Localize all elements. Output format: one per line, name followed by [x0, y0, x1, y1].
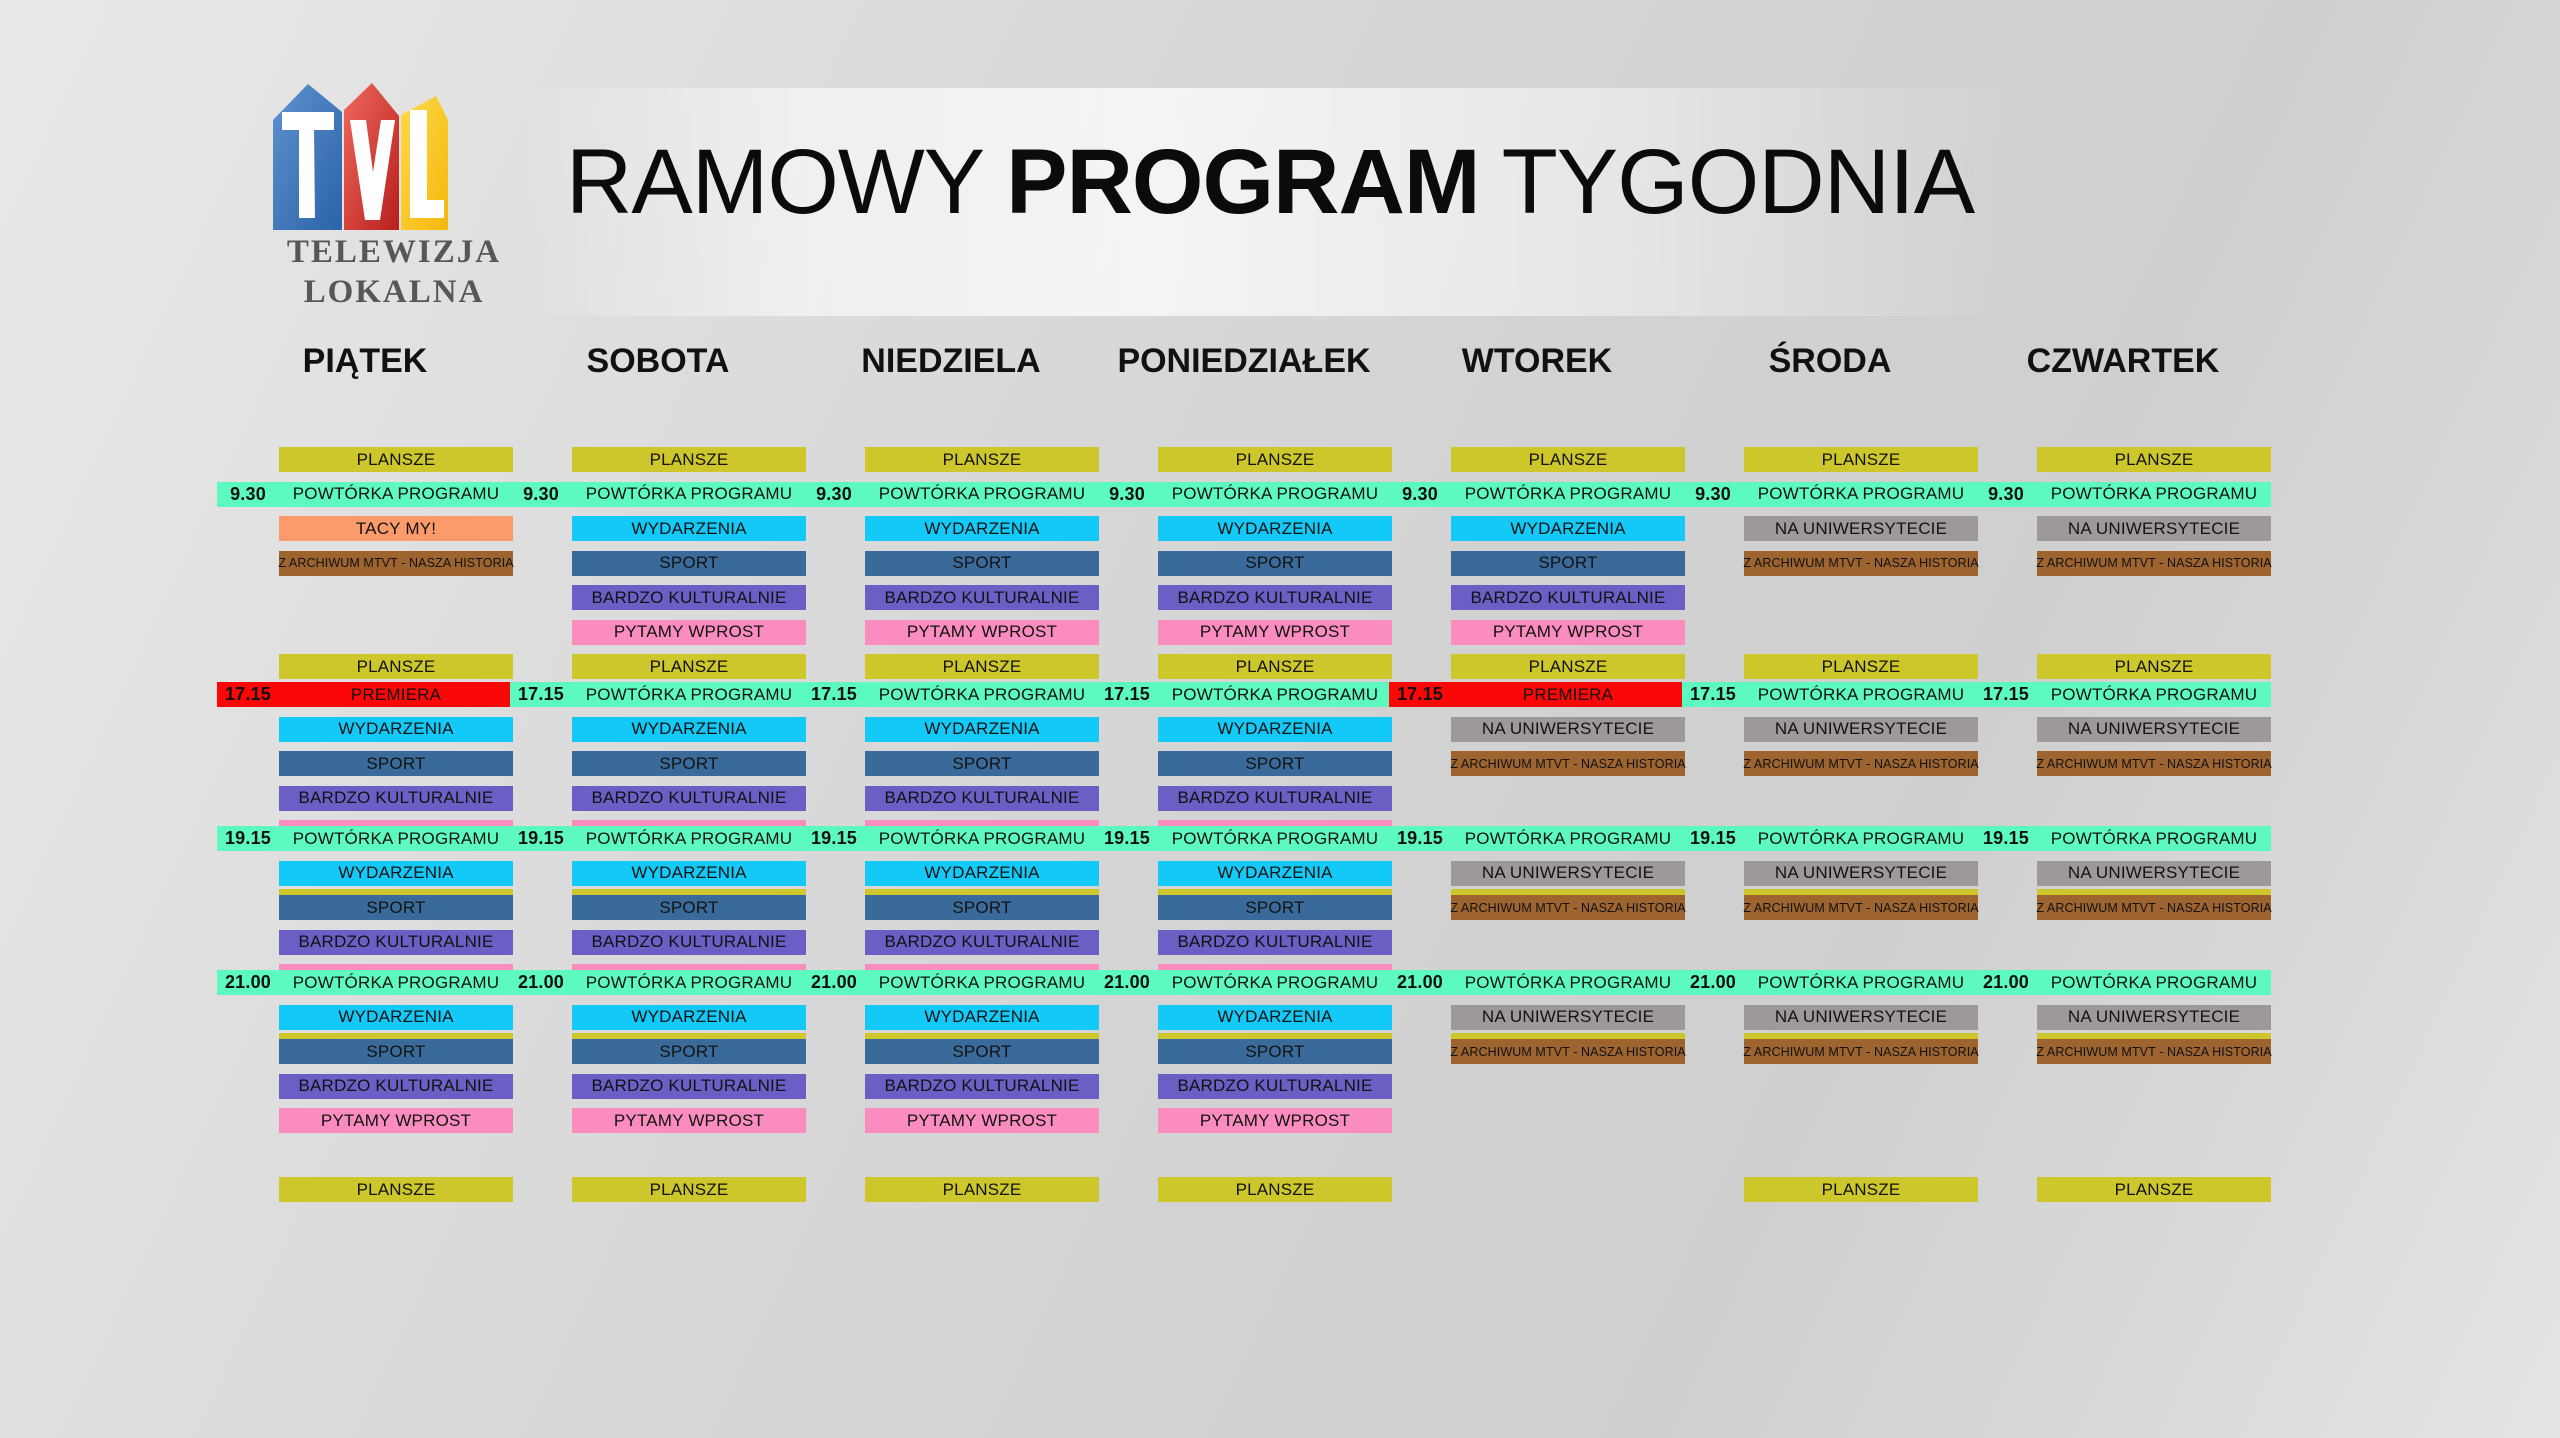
program-bar[interactable]: 9.30POWTÓRKA PROGRAMU — [217, 482, 513, 507]
program-bar[interactable]: PLANSZE — [2037, 447, 2271, 472]
program-label: BARDZO KULTURALNIE — [884, 932, 1079, 952]
program-label: PLANSZE — [2115, 1180, 2194, 1200]
program-time: 9.30 — [1682, 482, 1744, 507]
program-label: POWTÓRKA PROGRAMU — [2037, 685, 2271, 705]
program-bar[interactable]: 19.15POWTÓRKA PROGRAMU — [803, 826, 1099, 851]
program-bar[interactable]: PLANSZE — [865, 654, 1099, 679]
schedule-slot: Z ARCHIWUM MTVT - NASZA HISTORIA — [217, 551, 513, 585]
schedule-slot: NA UNIWERSYTECIE — [1682, 717, 1978, 751]
program-label: Z ARCHIWUM MTVT - NASZA HISTORIA — [2036, 901, 2271, 915]
program-bar[interactable]: BARDZO KULTURALNIE — [1158, 786, 1392, 811]
schedule-slot: SPORT — [803, 551, 1099, 585]
program-label: PLANSZE — [357, 657, 436, 677]
program-label: PLANSZE — [1236, 450, 1315, 470]
program-label: SPORT — [952, 898, 1011, 918]
program-bar[interactable]: WYDARZENIA — [1158, 516, 1392, 541]
program-bar[interactable]: 9.30POWTÓRKA PROGRAMU — [510, 482, 806, 507]
program-label: Z ARCHIWUM MTVT - NASZA HISTORIA — [278, 556, 513, 570]
program-bar[interactable]: WYDARZENIA — [1158, 717, 1392, 742]
program-bar[interactable]: PLANSZE — [2037, 654, 2271, 679]
program-bar[interactable]: Z ARCHIWUM MTVT - NASZA HISTORIA — [1451, 751, 1685, 776]
program-label: BARDZO KULTURALNIE — [884, 788, 1079, 808]
schedule-slot: 17.15POWTÓRKA PROGRAMU — [1975, 682, 2271, 716]
schedule-slot: 19.15POWTÓRKA PROGRAMU — [1389, 826, 1685, 860]
program-bar[interactable]: PLANSZE — [865, 447, 1099, 472]
program-bar[interactable]: 9.30POWTÓRKA PROGRAMU — [1682, 482, 1978, 507]
schedule-slot: WYDARZENIA — [1096, 861, 1392, 895]
program-bar[interactable]: 21.00POWTÓRKA PROGRAMU — [1682, 970, 1978, 995]
program-bar[interactable]: PYTAMY WPROST — [865, 620, 1099, 645]
schedule-gap — [1682, 1143, 1978, 1177]
program-label: SPORT — [1245, 553, 1304, 573]
program-bar[interactable]: 21.00POWTÓRKA PROGRAMU — [803, 970, 1099, 995]
program-bar[interactable]: BARDZO KULTURALNIE — [572, 585, 806, 610]
program-bar[interactable]: BARDZO KULTURALNIE — [572, 930, 806, 955]
logo-subtitle: TELEWIZJA LOKALNA — [268, 232, 520, 313]
schedule-slot: BARDZO KULTURALNIE — [217, 1074, 513, 1108]
program-label: BARDZO KULTURALNIE — [1470, 588, 1665, 608]
program-bar[interactable]: BARDZO KULTURALNIE — [865, 585, 1099, 610]
program-label: WYDARZENIA — [1510, 519, 1625, 539]
schedule-slot: Z ARCHIWUM MTVT - NASZA HISTORIA — [1975, 895, 2271, 929]
program-bar[interactable]: PLANSZE — [1158, 447, 1392, 472]
program-bar[interactable]: SPORT — [572, 551, 806, 576]
schedule-gap — [1682, 1108, 1978, 1142]
program-bar[interactable]: BARDZO KULTURALNIE — [1158, 930, 1392, 955]
schedule-slot: NA UNIWERSYTECIE — [1682, 516, 1978, 550]
program-label: NA UNIWERSYTECIE — [1775, 863, 1947, 883]
program-bar[interactable]: SPORT — [1451, 551, 1685, 576]
program-bar[interactable]: SPORT — [865, 551, 1099, 576]
program-label: SPORT — [366, 1042, 425, 1062]
program-bar[interactable]: SPORT — [1158, 895, 1392, 920]
schedule-slot: SPORT — [510, 895, 806, 929]
program-label: BARDZO KULTURALNIE — [298, 932, 493, 952]
day-column-środa: ŚRODAPLANSZE9.30POWTÓRKA PROGRAMUNA UNIW… — [1682, 330, 1978, 392]
program-label: PYTAMY WPROST — [1493, 622, 1643, 642]
program-label: PLANSZE — [2115, 450, 2194, 470]
program-bar[interactable]: Z ARCHIWUM MTVT - NASZA HISTORIA — [2037, 895, 2271, 920]
program-bar[interactable]: 21.00POWTÓRKA PROGRAMU — [1975, 970, 2271, 995]
schedule-gap — [1389, 1108, 1685, 1142]
program-time: 19.15 — [1975, 826, 2037, 851]
program-label: Z ARCHIWUM MTVT - NASZA HISTORIA — [1450, 901, 1685, 915]
program-time: 19.15 — [1682, 826, 1744, 851]
program-label: POWTÓRKA PROGRAMU — [1744, 685, 1978, 705]
schedule-gap — [1389, 930, 1685, 964]
program-bar[interactable]: SPORT — [865, 1039, 1099, 1064]
schedule-slot: 21.00POWTÓRKA PROGRAMU — [803, 970, 1099, 1004]
schedule-slot: PYTAMY WPROST — [803, 620, 1099, 654]
schedule-slot: Z ARCHIWUM MTVT - NASZA HISTORIA — [1682, 1039, 1978, 1073]
schedule-slot: WYDARZENIA — [510, 861, 806, 895]
program-bar[interactable]: PYTAMY WPROST — [1451, 620, 1685, 645]
schedule-slot: BARDZO KULTURALNIE — [803, 930, 1099, 964]
program-bar[interactable]: PLANSZE — [1451, 447, 1685, 472]
program-bar[interactable]: 21.00POWTÓRKA PROGRAMU — [510, 970, 806, 995]
program-bar[interactable]: SPORT — [572, 751, 806, 776]
program-time: 21.00 — [803, 970, 865, 995]
schedule-gap — [1682, 620, 1978, 654]
program-label: PLANSZE — [1822, 657, 1901, 677]
program-bar[interactable]: PLANSZE — [1744, 1177, 1978, 1202]
program-bar[interactable]: BARDZO KULTURALNIE — [572, 1074, 806, 1099]
program-bar[interactable]: BARDZO KULTURALNIE — [1158, 1074, 1392, 1099]
schedule-slot: NA UNIWERSYTECIE — [1975, 717, 2271, 751]
program-label: BARDZO KULTURALNIE — [1177, 588, 1372, 608]
program-label: Z ARCHIWUM MTVT - NASZA HISTORIA — [1743, 901, 1978, 915]
page-header: TELEWIZJA LOKALNA RAMOWYPROGRAMTYGODNIA — [0, 0, 2560, 330]
program-bar[interactable]: 17.15POWTÓRKA PROGRAMU — [1975, 682, 2271, 707]
program-label: SPORT — [952, 553, 1011, 573]
program-bar[interactable]: 19.15POWTÓRKA PROGRAMU — [1682, 826, 1978, 851]
schedule-slot: PYTAMY WPROST — [1096, 620, 1392, 654]
schedule-slot: Z ARCHIWUM MTVT - NASZA HISTORIA — [1389, 895, 1685, 929]
program-label: PLANSZE — [1236, 1180, 1315, 1200]
program-bar[interactable]: Z ARCHIWUM MTVT - NASZA HISTORIA — [279, 551, 513, 576]
program-time: 19.15 — [510, 826, 572, 851]
program-time: 19.15 — [803, 826, 865, 851]
day-column-wtorek: WTOREKPLANSZE9.30POWTÓRKA PROGRAMUWYDARZ… — [1389, 330, 1685, 392]
schedule-gap — [1975, 1108, 2271, 1142]
program-bar[interactable]: Z ARCHIWUM MTVT - NASZA HISTORIA — [2037, 551, 2271, 576]
program-label: POWTÓRKA PROGRAMU — [865, 685, 1099, 705]
page-title-part3: TYGODNIA — [1502, 130, 1974, 235]
schedule-slot: BARDZO KULTURALNIE — [1389, 585, 1685, 619]
schedule-slot: WYDARZENIA — [217, 1005, 513, 1039]
schedule-slot: SPORT — [217, 1039, 513, 1073]
program-bar[interactable]: NA UNIWERSYTECIE — [1451, 1005, 1685, 1030]
program-bar[interactable]: BARDZO KULTURALNIE — [279, 1074, 513, 1099]
program-bar[interactable]: WYDARZENIA — [572, 861, 806, 886]
program-label: POWTÓRKA PROGRAMU — [1744, 484, 1978, 504]
schedule-slot: WYDARZENIA — [1096, 516, 1392, 550]
schedule-slot: NA UNIWERSYTECIE — [1389, 861, 1685, 895]
program-label: POWTÓRKA PROGRAMU — [1744, 829, 1978, 849]
program-label: POWTÓRKA PROGRAMU — [1158, 685, 1392, 705]
program-bar[interactable]: 19.15POWTÓRKA PROGRAMU — [1389, 826, 1685, 851]
program-bar[interactable]: PLANSZE — [1451, 654, 1685, 679]
program-bar[interactable]: WYDARZENIA — [279, 861, 513, 886]
day-column-niedziela: NIEDZIELAPLANSZE9.30POWTÓRKA PROGRAMUWYD… — [803, 330, 1099, 392]
program-bar[interactable]: PYTAMY WPROST — [572, 1108, 806, 1133]
program-bar[interactable]: 17.15POWTÓRKA PROGRAMU — [1682, 682, 1978, 707]
program-bar[interactable]: NA UNIWERSYTECIE — [2037, 861, 2271, 886]
program-bar[interactable]: BARDZO KULTURALNIE — [1158, 585, 1392, 610]
program-bar[interactable]: NA UNIWERSYTECIE — [1744, 1005, 1978, 1030]
schedule-slot: PLANSZE — [1389, 447, 1685, 481]
program-label: POWTÓRKA PROGRAMU — [1158, 484, 1392, 504]
program-label: POWTÓRKA PROGRAMU — [865, 973, 1099, 993]
program-bar[interactable]: Z ARCHIWUM MTVT - NASZA HISTORIA — [1451, 1039, 1685, 1064]
program-time: 9.30 — [803, 482, 865, 507]
program-bar[interactable]: 21.00POWTÓRKA PROGRAMU — [217, 970, 513, 995]
program-bar[interactable]: SPORT — [1158, 1039, 1392, 1064]
program-bar[interactable]: 19.15POWTÓRKA PROGRAMU — [1096, 826, 1392, 851]
program-label: PLANSZE — [357, 1180, 436, 1200]
program-bar[interactable]: 17.15PREMIERA — [1389, 682, 1685, 707]
schedule-slot: PYTAMY WPROST — [1389, 620, 1685, 654]
program-bar[interactable]: Z ARCHIWUM MTVT - NASZA HISTORIA — [2037, 1039, 2271, 1064]
program-label: PLANSZE — [2115, 657, 2194, 677]
schedule-slot: 19.15POWTÓRKA PROGRAMU — [803, 826, 1099, 860]
program-bar[interactable]: WYDARZENIA — [1158, 1005, 1392, 1030]
program-bar[interactable]: 21.00POWTÓRKA PROGRAMU — [1096, 970, 1392, 995]
program-bar[interactable]: Z ARCHIWUM MTVT - NASZA HISTORIA — [1744, 895, 1978, 920]
program-time: 9.30 — [1975, 482, 2037, 507]
schedule-slot: SPORT — [510, 751, 806, 785]
program-bar[interactable]: Z ARCHIWUM MTVT - NASZA HISTORIA — [1744, 751, 1978, 776]
program-bar[interactable]: BARDZO KULTURALNIE — [865, 930, 1099, 955]
program-label: Z ARCHIWUM MTVT - NASZA HISTORIA — [1450, 1045, 1685, 1059]
program-bar[interactable]: NA UNIWERSYTECIE — [1744, 861, 1978, 886]
program-bar[interactable]: PLANSZE — [1744, 654, 1978, 679]
program-bar[interactable]: BARDZO KULTURALNIE — [279, 930, 513, 955]
schedule-slot: 19.15POWTÓRKA PROGRAMU — [510, 826, 806, 860]
program-bar[interactable]: PLANSZE — [572, 654, 806, 679]
schedule-gap — [1682, 930, 1978, 964]
program-bar[interactable]: NA UNIWERSYTECIE — [1744, 516, 1978, 541]
day-header: NIEDZIELA — [803, 330, 1099, 392]
program-label: WYDARZENIA — [631, 719, 746, 739]
program-label: SPORT — [659, 754, 718, 774]
schedule-gap — [1682, 1074, 1978, 1108]
program-bar[interactable]: PLANSZE — [572, 447, 806, 472]
program-bar[interactable]: WYDARZENIA — [572, 717, 806, 742]
schedule-slot: PYTAMY WPROST — [510, 1108, 806, 1142]
program-bar[interactable]: BARDZO KULTURALNIE — [1451, 585, 1685, 610]
program-bar[interactable]: PYTAMY WPROST — [865, 1108, 1099, 1133]
schedule-gap — [1682, 585, 1978, 619]
program-bar[interactable]: 21.00POWTÓRKA PROGRAMU — [1389, 970, 1685, 995]
program-bar[interactable]: PLANSZE — [1158, 654, 1392, 679]
program-label: WYDARZENIA — [338, 863, 453, 883]
program-label: PLANSZE — [943, 657, 1022, 677]
schedule-slot: WYDARZENIA — [217, 717, 513, 751]
schedule-slot: 21.00POWTÓRKA PROGRAMU — [1096, 970, 1392, 1004]
schedule-gap — [1389, 1177, 1685, 1211]
program-bar[interactable]: PLANSZE — [279, 1177, 513, 1202]
schedule-slot: NA UNIWERSYTECIE — [1389, 1005, 1685, 1039]
program-bar[interactable]: PYTAMY WPROST — [279, 1108, 513, 1133]
program-bar[interactable]: WYDARZENIA — [279, 1005, 513, 1030]
program-bar[interactable]: WYDARZENIA — [865, 717, 1099, 742]
program-bar[interactable]: PYTAMY WPROST — [1158, 620, 1392, 645]
program-bar[interactable]: PLANSZE — [572, 1177, 806, 1202]
program-bar[interactable]: SPORT — [1158, 751, 1392, 776]
schedule-slot: Z ARCHIWUM MTVT - NASZA HISTORIA — [1682, 751, 1978, 785]
program-label: BARDZO KULTURALNIE — [298, 788, 493, 808]
program-label: BARDZO KULTURALNIE — [884, 1076, 1079, 1096]
schedule-gap — [1975, 786, 2271, 820]
schedule-slot: 19.15POWTÓRKA PROGRAMU — [1975, 826, 2271, 860]
program-time: 9.30 — [1096, 482, 1158, 507]
program-bar[interactable]: PLANSZE — [279, 654, 513, 679]
program-bar[interactable]: PLANSZE — [1744, 447, 1978, 472]
schedule-slot: PLANSZE — [217, 1177, 513, 1211]
day-column-sobota: SOBOTAPLANSZE9.30POWTÓRKA PROGRAMUWYDARZ… — [510, 330, 806, 392]
schedule-gap — [1975, 1143, 2271, 1177]
program-time: 9.30 — [217, 482, 279, 507]
schedule-slot: 9.30POWTÓRKA PROGRAMU — [1682, 482, 1978, 516]
program-time: 9.30 — [510, 482, 572, 507]
program-bar[interactable]: NA UNIWERSYTECIE — [1451, 717, 1685, 742]
program-bar[interactable]: SPORT — [572, 895, 806, 920]
program-label: WYDARZENIA — [924, 519, 1039, 539]
program-bar[interactable]: NA UNIWERSYTECIE — [2037, 1005, 2271, 1030]
schedule-slot: BARDZO KULTURALNIE — [510, 1074, 806, 1108]
program-label: PYTAMY WPROST — [1200, 622, 1350, 642]
program-label: SPORT — [659, 898, 718, 918]
program-bar[interactable]: SPORT — [572, 1039, 806, 1064]
program-bar[interactable]: BARDZO KULTURALNIE — [865, 786, 1099, 811]
program-label: PLANSZE — [357, 450, 436, 470]
day-column-piątek: PIĄTEKPLANSZE9.30POWTÓRKA PROGRAMUTACY M… — [217, 330, 513, 392]
schedule-slot: PLANSZE — [803, 447, 1099, 481]
program-label: POWTÓRKA PROGRAMU — [1451, 829, 1685, 849]
program-bar[interactable]: SPORT — [279, 895, 513, 920]
program-time: 21.00 — [510, 970, 572, 995]
program-bar[interactable]: 17.15PREMIERA — [217, 682, 513, 707]
program-bar[interactable]: PLANSZE — [279, 447, 513, 472]
schedule-slot: NA UNIWERSYTECIE — [1975, 1005, 2271, 1039]
program-label: WYDARZENIA — [924, 863, 1039, 883]
program-bar[interactable]: BARDZO KULTURALNIE — [279, 786, 513, 811]
program-label: Z ARCHIWUM MTVT - NASZA HISTORIA — [2036, 556, 2271, 570]
schedule-slot: PLANSZE — [1975, 447, 2271, 481]
schedule-slot: SPORT — [1096, 895, 1392, 929]
program-label: POWTÓRKA PROGRAMU — [865, 829, 1099, 849]
day-column-czwartek: CZWARTEKPLANSZE9.30POWTÓRKA PROGRAMUNA U… — [1975, 330, 2271, 392]
program-label: NA UNIWERSYTECIE — [2068, 1007, 2240, 1027]
program-label: NA UNIWERSYTECIE — [1775, 519, 1947, 539]
schedule-gap — [1975, 585, 2271, 619]
program-bar[interactable]: 17.15POWTÓRKA PROGRAMU — [510, 682, 806, 707]
program-bar[interactable]: PLANSZE — [865, 1177, 1099, 1202]
schedule-gap — [1975, 620, 2271, 654]
program-bar[interactable]: 9.30POWTÓRKA PROGRAMU — [803, 482, 1099, 507]
schedule-slot: BARDZO KULTURALNIE — [1096, 930, 1392, 964]
tvl-logo-mark-icon — [268, 82, 520, 232]
schedule-slot: 17.15POWTÓRKA PROGRAMU — [1682, 682, 1978, 716]
program-bar[interactable]: NA UNIWERSYTECIE — [1744, 717, 1978, 742]
schedule-slot: 9.30POWTÓRKA PROGRAMU — [1975, 482, 2271, 516]
schedule-slot: WYDARZENIA — [510, 516, 806, 550]
schedule-gap — [1389, 1074, 1685, 1108]
schedule-slot: WYDARZENIA — [803, 516, 1099, 550]
program-label: PLANSZE — [943, 1180, 1022, 1200]
program-bar[interactable]: NA UNIWERSYTECIE — [2037, 516, 2271, 541]
program-bar[interactable]: WYDARZENIA — [279, 717, 513, 742]
schedule-slot: 9.30POWTÓRKA PROGRAMU — [1389, 482, 1685, 516]
schedule-slot: PLANSZE — [510, 447, 806, 481]
program-bar[interactable]: WYDARZENIA — [1158, 861, 1392, 886]
program-bar[interactable]: 17.15POWTÓRKA PROGRAMU — [803, 682, 1099, 707]
program-label: BARDZO KULTURALNIE — [591, 788, 786, 808]
day-header: CZWARTEK — [1975, 330, 2271, 392]
schedule-slot: NA UNIWERSYTECIE — [1975, 861, 2271, 895]
program-bar[interactable]: 9.30POWTÓRKA PROGRAMU — [1389, 482, 1685, 507]
program-bar[interactable]: 19.15POWTÓRKA PROGRAMU — [510, 826, 806, 851]
program-bar[interactable]: BARDZO KULTURALNIE — [865, 1074, 1099, 1099]
program-time: 17.15 — [1682, 682, 1744, 707]
program-bar[interactable]: Z ARCHIWUM MTVT - NASZA HISTORIA — [2037, 751, 2271, 776]
program-bar[interactable]: 9.30POWTÓRKA PROGRAMU — [1096, 482, 1392, 507]
program-label: NA UNIWERSYTECIE — [2068, 719, 2240, 739]
program-label: BARDZO KULTURALNIE — [1177, 1076, 1372, 1096]
program-label: BARDZO KULTURALNIE — [591, 1076, 786, 1096]
program-bar[interactable]: SPORT — [865, 751, 1099, 776]
schedule-slot: WYDARZENIA — [510, 717, 806, 751]
program-label: Z ARCHIWUM MTVT - NASZA HISTORIA — [1743, 1045, 1978, 1059]
program-label: NA UNIWERSYTECIE — [2068, 863, 2240, 883]
program-bar[interactable]: SPORT — [1158, 551, 1392, 576]
program-bar[interactable]: Z ARCHIWUM MTVT - NASZA HISTORIA — [1451, 895, 1685, 920]
program-label: Z ARCHIWUM MTVT - NASZA HISTORIA — [2036, 757, 2271, 771]
program-bar[interactable]: Z ARCHIWUM MTVT - NASZA HISTORIA — [1744, 551, 1978, 576]
program-bar[interactable]: SPORT — [279, 751, 513, 776]
schedule-slot: 21.00POWTÓRKA PROGRAMU — [1682, 970, 1978, 1004]
program-bar[interactable]: NA UNIWERSYTECIE — [1451, 861, 1685, 886]
program-label: WYDARZENIA — [1217, 1007, 1332, 1027]
program-bar[interactable]: TACY MY! — [279, 516, 513, 541]
program-label: PYTAMY WPROST — [907, 1111, 1057, 1131]
program-label: BARDZO KULTURALNIE — [298, 1076, 493, 1096]
schedule-gap — [1975, 930, 2271, 964]
program-label: PYTAMY WPROST — [907, 622, 1057, 642]
schedule-slot: WYDARZENIA — [803, 717, 1099, 751]
program-bar[interactable]: 19.15POWTÓRKA PROGRAMU — [1975, 826, 2271, 851]
program-bar[interactable]: WYDARZENIA — [865, 1005, 1099, 1030]
program-label: PLANSZE — [943, 450, 1022, 470]
program-bar[interactable]: PLANSZE — [2037, 1177, 2271, 1202]
program-bar[interactable]: 19.15POWTÓRKA PROGRAMU — [217, 826, 513, 851]
program-bar[interactable]: Z ARCHIWUM MTVT - NASZA HISTORIA — [1744, 1039, 1978, 1064]
schedule-slot: 9.30POWTÓRKA PROGRAMU — [217, 482, 513, 516]
program-label: POWTÓRKA PROGRAMU — [572, 484, 806, 504]
schedule-slot: Z ARCHIWUM MTVT - NASZA HISTORIA — [1975, 1039, 2271, 1073]
page-title-part1: RAMOWY — [566, 130, 984, 235]
program-bar[interactable]: WYDARZENIA — [865, 861, 1099, 886]
program-bar[interactable]: SPORT — [865, 895, 1099, 920]
program-label: SPORT — [366, 754, 425, 774]
schedule-gap — [1389, 786, 1685, 820]
logo-subtitle-line1: TELEWIZJA — [287, 234, 501, 270]
program-bar[interactable]: PYTAMY WPROST — [1158, 1108, 1392, 1133]
program-label: PLANSZE — [1822, 1180, 1901, 1200]
program-bar[interactable]: WYDARZENIA — [572, 1005, 806, 1030]
program-bar[interactable]: PYTAMY WPROST — [572, 620, 806, 645]
program-label: PLANSZE — [1529, 657, 1608, 677]
program-bar[interactable]: 9.30POWTÓRKA PROGRAMU — [1975, 482, 2271, 507]
program-bar[interactable]: BARDZO KULTURALNIE — [572, 786, 806, 811]
program-bar[interactable]: 17.15POWTÓRKA PROGRAMU — [1096, 682, 1392, 707]
program-bar[interactable]: NA UNIWERSYTECIE — [2037, 717, 2271, 742]
program-label: WYDARZENIA — [338, 1007, 453, 1027]
schedule-slot: 21.00POWTÓRKA PROGRAMU — [510, 970, 806, 1004]
schedule-slot: 19.15POWTÓRKA PROGRAMU — [217, 826, 513, 860]
schedule-slot: SPORT — [803, 895, 1099, 929]
program-bar[interactable]: WYDARZENIA — [1451, 516, 1685, 541]
program-label: NA UNIWERSYTECIE — [1482, 719, 1654, 739]
program-bar[interactable]: WYDARZENIA — [572, 516, 806, 541]
program-bar[interactable]: PLANSZE — [1158, 1177, 1392, 1202]
schedule-gap — [1975, 1074, 2271, 1108]
program-bar[interactable]: WYDARZENIA — [865, 516, 1099, 541]
program-bar[interactable]: SPORT — [279, 1039, 513, 1064]
program-label: POWTÓRKA PROGRAMU — [2037, 829, 2271, 849]
schedule-gap — [1096, 1143, 1392, 1177]
